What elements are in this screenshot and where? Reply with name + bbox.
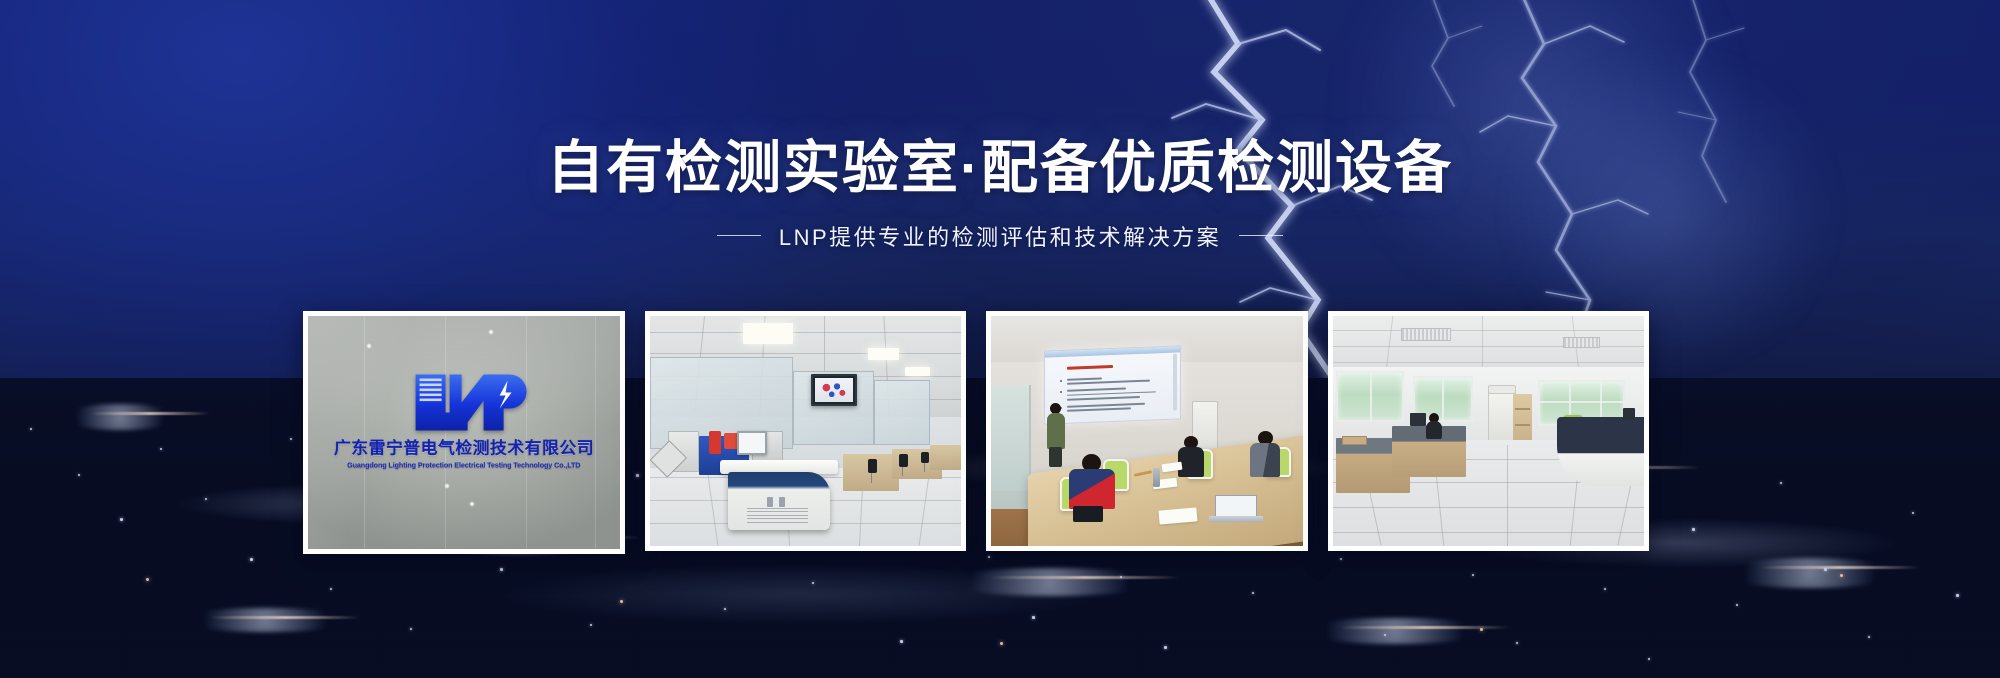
dash-left-icon	[717, 235, 761, 236]
photo-image	[1333, 316, 1645, 546]
laptop	[1209, 495, 1263, 525]
photo-image: 广东雷宁普电气检测技术有限公司 Guangdong Lighting Prote…	[308, 316, 620, 549]
ceiling-vent	[1401, 328, 1451, 342]
office-scene	[1333, 316, 1645, 546]
photo-testing-laboratory[interactable]	[645, 311, 967, 551]
company-logo: 广东雷宁普电气检测技术有限公司 Guangdong Lighting Prote…	[317, 368, 610, 469]
lab-chair	[921, 452, 929, 472]
company-name-en: Guangdong Lighting Protection Electrical…	[317, 460, 610, 469]
desk-box	[1342, 436, 1367, 445]
lab-monitor	[737, 431, 767, 455]
dash-right-icon	[1239, 235, 1283, 236]
banner-title: 自有检测实验室·配备优质检测设备	[0, 138, 2000, 200]
bookshelf	[1513, 394, 1532, 445]
photo-office-area[interactable]	[1328, 311, 1650, 551]
computer-monitor	[1410, 413, 1426, 426]
company-name-cn: 广东雷宁普电气检测技术有限公司	[314, 434, 613, 458]
meeting-room-scene	[991, 316, 1303, 546]
office-worker	[1426, 413, 1442, 439]
attendee-person	[1069, 454, 1115, 520]
wall-tv	[811, 374, 857, 406]
hero-banner: 自有检测实验室·配备优质检测设备 LNP提供专业的检测评估和技术解决方案	[0, 0, 2000, 678]
subtitle-row: LNP提供专业的检测评估和技术解决方案	[0, 220, 2000, 252]
banner-subtitle: LNP提供专业的检测评估和技术解决方案	[779, 220, 1221, 252]
photo-company-logo-wall[interactable]: 广东雷宁普电气检测技术有限公司 Guangdong Lighting Prote…	[303, 311, 625, 554]
lab-chair	[899, 454, 908, 476]
air-conditioner	[1488, 385, 1516, 394]
ceiling-vent	[1563, 337, 1600, 349]
room-door	[991, 385, 1031, 509]
reception-counter	[1557, 417, 1644, 486]
logo-wall-scene: 广东雷宁普电气检测技术有限公司 Guangdong Lighting Prote…	[308, 316, 620, 549]
lnp-logo-icon	[400, 368, 528, 430]
lab-chair	[868, 459, 877, 483]
presenter-person	[1047, 403, 1065, 465]
photo-image	[991, 316, 1303, 546]
control-console	[724, 460, 834, 530]
photo-meeting-room[interactable]	[986, 311, 1308, 551]
headline-block: 自有检测实验室·配备优质检测设备 LNP提供专业的检测评估和技术解决方案	[0, 138, 2000, 252]
thermos-cup	[1153, 468, 1160, 487]
attendee-person	[1250, 431, 1280, 479]
laboratory-scene	[650, 316, 962, 546]
desk-equipment	[1623, 408, 1635, 420]
photo-strip: 广东雷宁普电气检测技术有限公司 Guangdong Lighting Prote…	[303, 311, 1649, 554]
photo-image	[650, 316, 962, 546]
attendee-person	[1178, 436, 1204, 480]
